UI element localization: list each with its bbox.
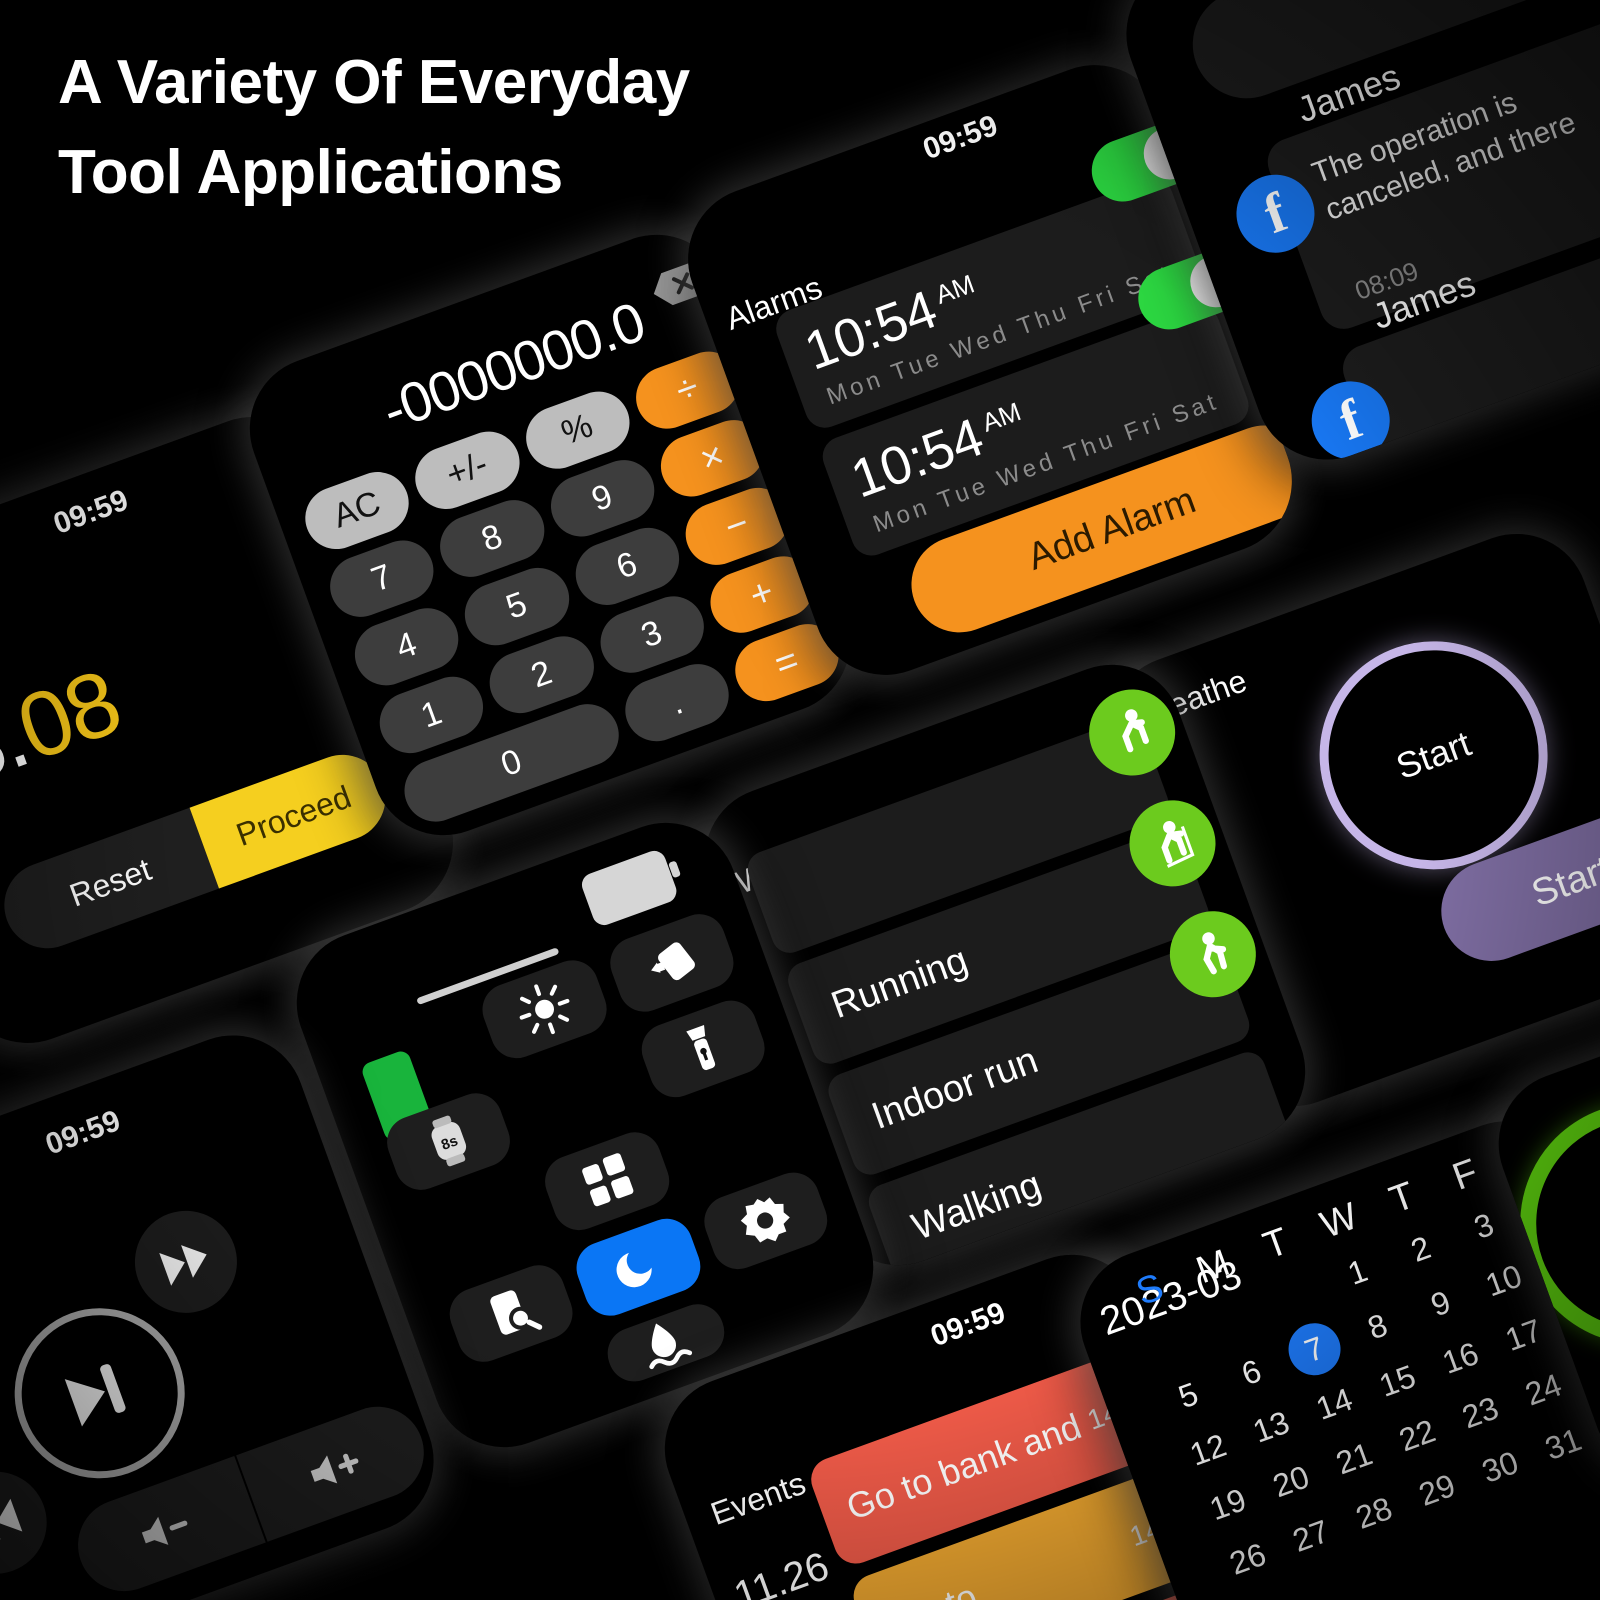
facebook-icon: f (1225, 164, 1325, 264)
workout-label: Indoor run (866, 1039, 1043, 1139)
calendar-empty-cell: . (1259, 1261, 1330, 1329)
stopwatch-controls: Reset Proceed (0, 743, 398, 961)
calendar-day-cell[interactable]: 26 (1212, 1525, 1283, 1593)
previous-track-icon (0, 1485, 33, 1559)
event-label: photo (884, 1575, 983, 1600)
proceed-button[interactable]: Proceed (190, 743, 398, 889)
showcase-canvas: A Variety Of Everyday Tool Applications … (0, 0, 1600, 1600)
workout-label: Walking (906, 1163, 1046, 1249)
status-time: 09:59 (49, 484, 133, 542)
headline-line-1: A Variety Of Everyday (58, 38, 958, 128)
reset-button[interactable]: Reset (0, 808, 219, 961)
calendar-day-cell[interactable]: 30 (1464, 1433, 1535, 1501)
play-pause-icon (46, 1339, 154, 1447)
headline-line-2: Tool Applications (58, 128, 958, 218)
breathe-ring-label: Start (1391, 723, 1477, 788)
next-track-button[interactable] (121, 1196, 252, 1327)
volume-down-icon (125, 1496, 207, 1563)
play-pause-button[interactable] (0, 1284, 209, 1502)
facebook-icon: f (1301, 370, 1401, 470)
alarm-ampm: AM (931, 268, 978, 310)
next-track-icon (149, 1225, 223, 1299)
calendar-day-cell[interactable]: 29 (1401, 1456, 1472, 1524)
stopwatch-elapsed: 0:23.08 (0, 650, 133, 849)
workout-label: Running (826, 939, 974, 1028)
previous-track-button[interactable] (0, 1457, 61, 1588)
battery-icon (579, 848, 680, 929)
calendar-day-cell[interactable]: 27 (1275, 1502, 1346, 1570)
volume-up-button[interactable] (236, 1394, 437, 1542)
app-title-events: Events (706, 1465, 811, 1533)
status-time: 09:59 (41, 1104, 125, 1162)
volume-up-icon (296, 1434, 378, 1501)
alarm-ampm: AM (978, 396, 1025, 438)
page-title: A Variety Of Everyday Tool Applications (58, 38, 958, 218)
calendar-day-cell[interactable]: 7 (1281, 1316, 1348, 1383)
calendar-day-cell[interactable]: 31 (1527, 1410, 1598, 1478)
runner-icon (1077, 677, 1187, 787)
events-date: 11.26 (728, 1544, 835, 1600)
calendar-day-cell[interactable]: 28 (1338, 1479, 1409, 1547)
status-time: 09:59 (926, 1296, 1010, 1354)
